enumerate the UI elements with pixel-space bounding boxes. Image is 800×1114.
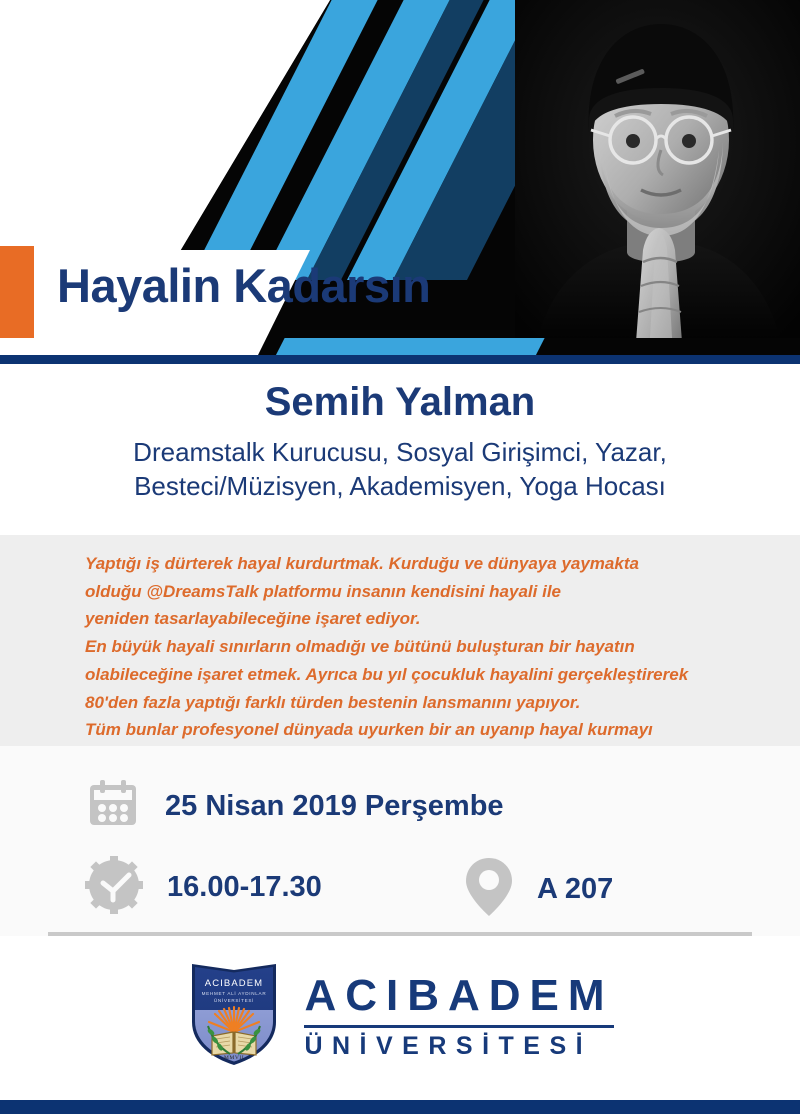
- calendar-icon: [85, 776, 141, 837]
- speaker-role-line-1: Dreamstalk Kurucusu, Sosyal Girişimci, Y…: [0, 435, 800, 469]
- description-line: olabileceğine işaret etmek. Ayrıca bu yı…: [85, 661, 725, 689]
- description-line: Yaptığı iş dürterek hayal kurdurtmak. Ku…: [85, 550, 725, 578]
- poster-title: Hayalin Kadarsın: [57, 258, 430, 313]
- university-crest-icon: ACIBADEM MEHMET ALİ AYDINLAR ÜNİVERSİTES…: [186, 960, 282, 1073]
- event-details: 25 Nisan 2019 Perşembe: [0, 746, 800, 936]
- wordmark-acibadem: ACIBADEM: [304, 974, 613, 1018]
- speaker-role-line-2: Besteci/Müzisyen, Akademisyen, Yoga Hoca…: [0, 469, 800, 503]
- event-date: 25 Nisan 2019 Perşembe: [165, 790, 504, 823]
- description-line: 80'den fazla yaptığı farklı türden beste…: [85, 689, 725, 717]
- detail-row-date: 25 Nisan 2019 Perşembe: [85, 776, 504, 837]
- speaker-role: Dreamstalk Kurucusu, Sosyal Girişimci, Y…: [0, 435, 800, 504]
- svg-text:MMVII: MMVII: [224, 1055, 244, 1061]
- description-line: Tüm bunlar profesyonel dünyada uyurken b…: [85, 716, 725, 744]
- detail-row-time: 16.00-17.30: [85, 856, 322, 919]
- footer-divider: [48, 932, 752, 936]
- speaker-portrait: [515, 0, 800, 355]
- description-line: olduğu @DreamsTalk platformu insanın ken…: [85, 578, 725, 606]
- poster-header: Hayalin Kadarsın: [0, 0, 800, 355]
- event-place: A 207: [537, 873, 613, 906]
- description-line: En büyük hayali sınırların olmadığı ve b…: [85, 633, 725, 661]
- detail-row-place: A 207: [465, 856, 613, 923]
- speaker-name: Semih Yalman: [0, 380, 800, 425]
- clock-icon: [85, 856, 143, 919]
- svg-text:ÜNİVERSİTESİ: ÜNİVERSİTESİ: [214, 997, 254, 1003]
- bottom-navy-bar: [0, 1100, 800, 1114]
- orange-accent-tab: [0, 246, 34, 338]
- navy-divider: [0, 355, 800, 364]
- description-text: Yaptığı iş dürterek hayal kurdurtmak. Ku…: [85, 550, 725, 772]
- university-logo: ACIBADEM MEHMET ALİ AYDINLAR ÜNİVERSİTES…: [0, 960, 800, 1073]
- svg-text:MEHMET ALİ AYDINLAR: MEHMET ALİ AYDINLAR: [202, 990, 267, 996]
- wordmark-universitesi: ÜNİVERSİTESİ: [304, 1034, 613, 1059]
- university-wordmark: ACIBADEM ÜNİVERSİTESİ: [304, 974, 613, 1059]
- description-band: Yaptığı iş dürterek hayal kurdurtmak. Ku…: [0, 535, 800, 746]
- event-poster: Hayalin Kadarsın Semih Yalman Dreamstalk…: [0, 0, 800, 1114]
- event-time: 16.00-17.30: [167, 871, 322, 904]
- crest-title: ACIBADEM: [205, 978, 263, 989]
- wordmark-rule: [304, 1025, 613, 1028]
- header-lower-blue-stripe: [271, 338, 544, 355]
- speaker-block: Semih Yalman Dreamstalk Kurucusu, Sosyal…: [0, 380, 800, 504]
- location-pin-icon: [465, 856, 513, 923]
- description-line: yeniden tasarlayabileceğine işaret ediyo…: [85, 605, 725, 633]
